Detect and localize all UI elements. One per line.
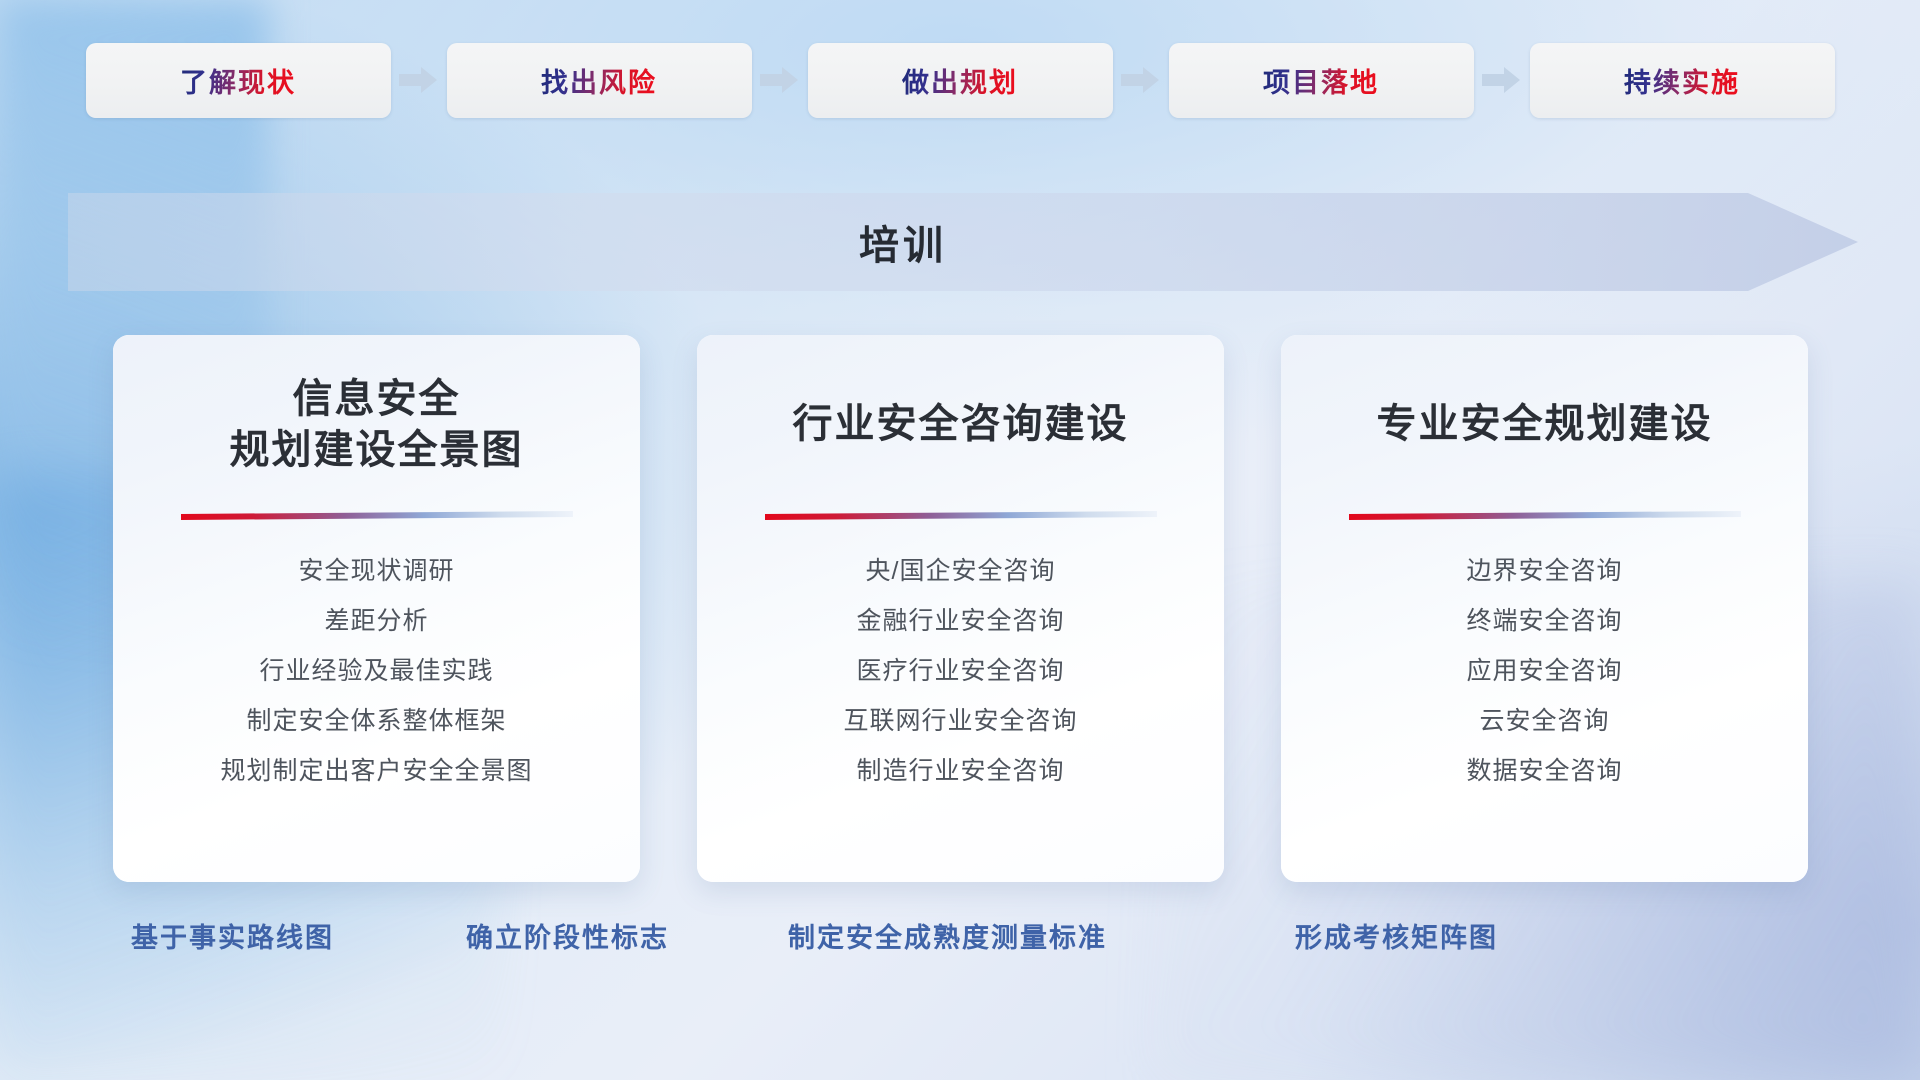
process-step-label: 持续实施 [1624,61,1740,100]
process-step-label: 做出规划 [902,61,1018,100]
card-item: 安全现状调研 [298,546,454,596]
right-arrow-icon [391,65,447,95]
card-item: 边界安全咨询 [1466,546,1622,596]
process-step-0[interactable]: 了解现状 [86,43,391,118]
card-content: 专业安全规划建设 [1281,335,1808,882]
card-item: 差距分析 [324,596,428,646]
capability-card[interactable]: 专业安全规划建设 [1281,335,1808,882]
training-banner-label: 培训 [68,193,1858,291]
card-divider [1349,509,1741,520]
card-item-list: 央/国企安全咨询 金融行业安全咨询 医疗行业安全咨询 互联网行业安全咨询 制造行… [843,546,1077,882]
caption-item: 制定安全成熟度测量标准 [788,915,1107,955]
capability-card[interactable]: 信息安全 规划建设全景图 [113,335,640,882]
right-arrow-icon [1113,65,1169,95]
process-step-1[interactable]: 找出风险 [447,43,752,118]
card-divider [181,509,573,520]
card-title: 信息安全 规划建设全景图 [230,335,524,505]
process-step-label: 项目落地 [1263,61,1379,100]
right-arrow-icon [752,65,808,95]
training-banner: 培训 [68,193,1858,291]
card-item: 终端安全咨询 [1466,596,1622,646]
card-item-list: 边界安全咨询 终端安全咨询 应用安全咨询 云安全咨询 数据安全咨询 [1466,546,1622,882]
card-item: 医疗行业安全咨询 [856,646,1064,696]
process-step-label: 找出风险 [541,61,657,100]
capability-card-group: 信息安全 规划建设全景图 [0,335,1920,890]
card-item: 金融行业安全咨询 [856,596,1064,646]
card-item: 云安全咨询 [1479,696,1609,746]
card-title-line: 信息安全 [230,374,524,425]
caption-row: 基于事实路线图 确立阶段性标志 制定安全成熟度测量标准 形成考核矩阵图 [0,915,1920,965]
card-item: 互联网行业安全咨询 [843,696,1077,746]
process-step-4[interactable]: 持续实施 [1530,43,1835,118]
card-item: 数据安全咨询 [1466,746,1622,796]
card-item: 央/国企安全咨询 [866,546,1056,596]
card-content: 行业安全咨询建设 [697,335,1224,882]
card-item: 规划制定出客户安全全景图 [220,746,532,796]
card-title: 专业安全规划建设 [1377,335,1713,505]
process-step-flow: 了解现状 找出风险 做出规划 项目落地 持续实施 [0,0,1920,160]
card-item: 行业经验及最佳实践 [259,646,493,696]
card-item: 制造行业安全咨询 [856,746,1064,796]
process-step-3[interactable]: 项目落地 [1169,43,1474,118]
card-title-line: 规划建设全景图 [230,425,524,476]
process-step-label: 了解现状 [180,61,296,100]
card-item: 应用安全咨询 [1466,646,1622,696]
card-title: 行业安全咨询建设 [793,335,1129,505]
caption-item: 确立阶段性标志 [466,915,669,955]
right-arrow-icon [1474,65,1530,95]
card-content: 信息安全 规划建设全景图 [113,335,640,882]
caption-item: 形成考核矩阵图 [1295,915,1498,955]
card-divider [765,509,1157,520]
card-item: 制定安全体系整体框架 [246,696,506,746]
card-item-list: 安全现状调研 差距分析 行业经验及最佳实践 制定安全体系整体框架 规划制定出客户… [220,546,532,882]
capability-card[interactable]: 行业安全咨询建设 [697,335,1224,882]
process-step-2[interactable]: 做出规划 [808,43,1113,118]
card-title-line: 行业安全咨询建设 [793,399,1129,450]
card-title-line: 专业安全规划建设 [1377,399,1713,450]
caption-item: 基于事实路线图 [131,915,334,955]
